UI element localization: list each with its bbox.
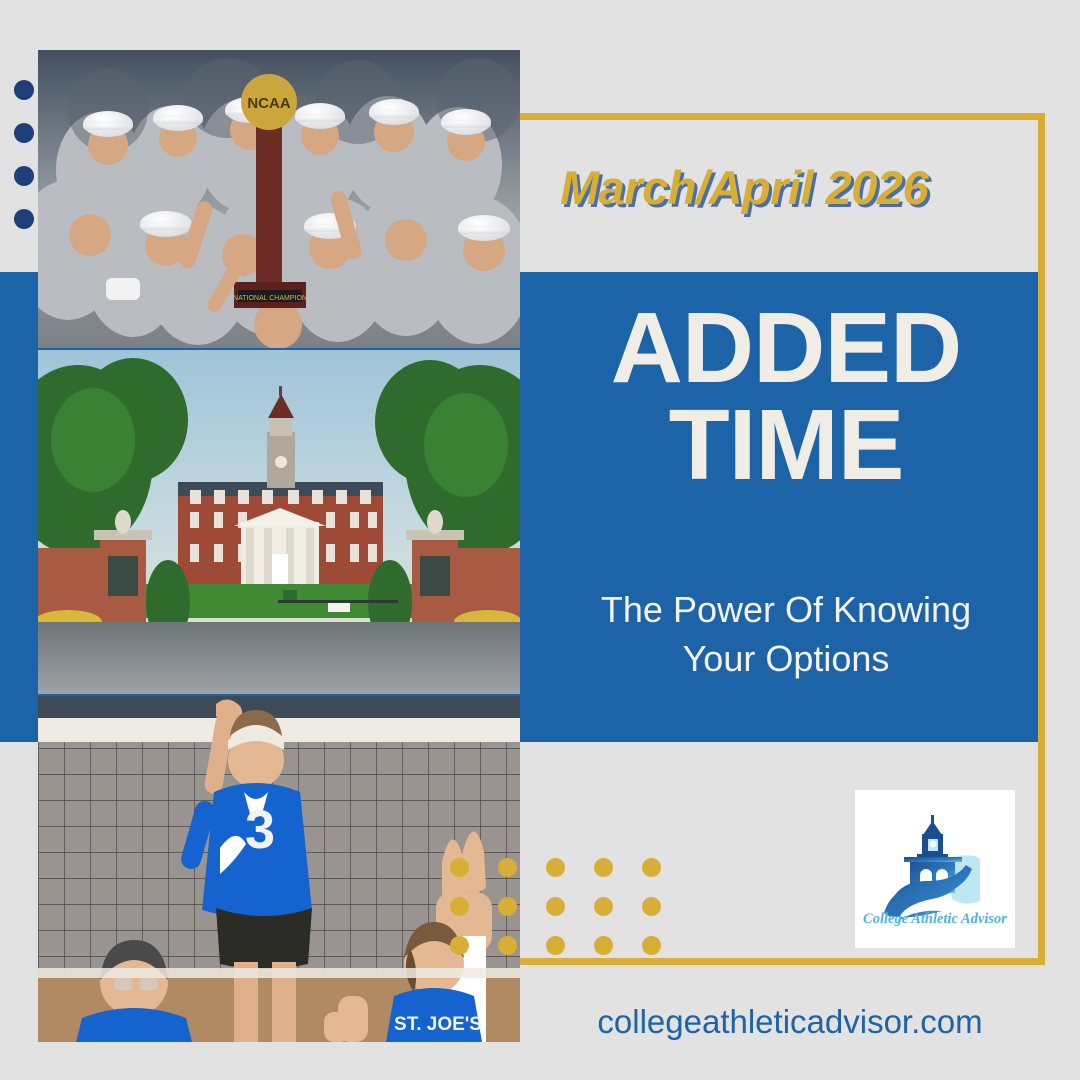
svg-text:NCAA: NCAA [247,95,290,112]
brand-logo-card[interactable]: College Athletic Advisor [855,790,1015,948]
svg-text:3: 3 [245,800,275,860]
headline-line-1: ADDED [611,292,962,404]
college-campus-entrance-photo [38,350,520,694]
ncaa-championship-team-photo: NATIONAL CHAMPION NCAA [38,50,520,348]
issue-date-label: March/April 2026 [560,160,1020,215]
gold-dot-pattern [450,858,660,958]
subtitle-line-1: The Power Of Knowing [601,589,971,630]
subtitle-line-2: Your Options [683,638,890,679]
headline-line-2: TIME [546,397,1026,494]
cupola-tower-icon: College Athletic Advisor [860,795,1010,943]
website-url[interactable]: collegeathleticadvisor.com [540,1003,1040,1041]
volleyball-player-photo: 3 ST. JOE'S [38,696,520,1042]
subtitle: The Power Of Knowing Your Options [546,586,1026,683]
svg-text:NATIONAL CHAMPION: NATIONAL CHAMPION [233,295,307,302]
poster-canvas: NATIONAL CHAMPION NCAA [0,0,1080,1080]
svg-text:ST. JOE'S: ST. JOE'S [394,1014,482,1035]
page-title: ADDED TIME [546,300,1026,494]
svg-text:College Athletic Advisor: College Athletic Advisor [863,911,1007,927]
